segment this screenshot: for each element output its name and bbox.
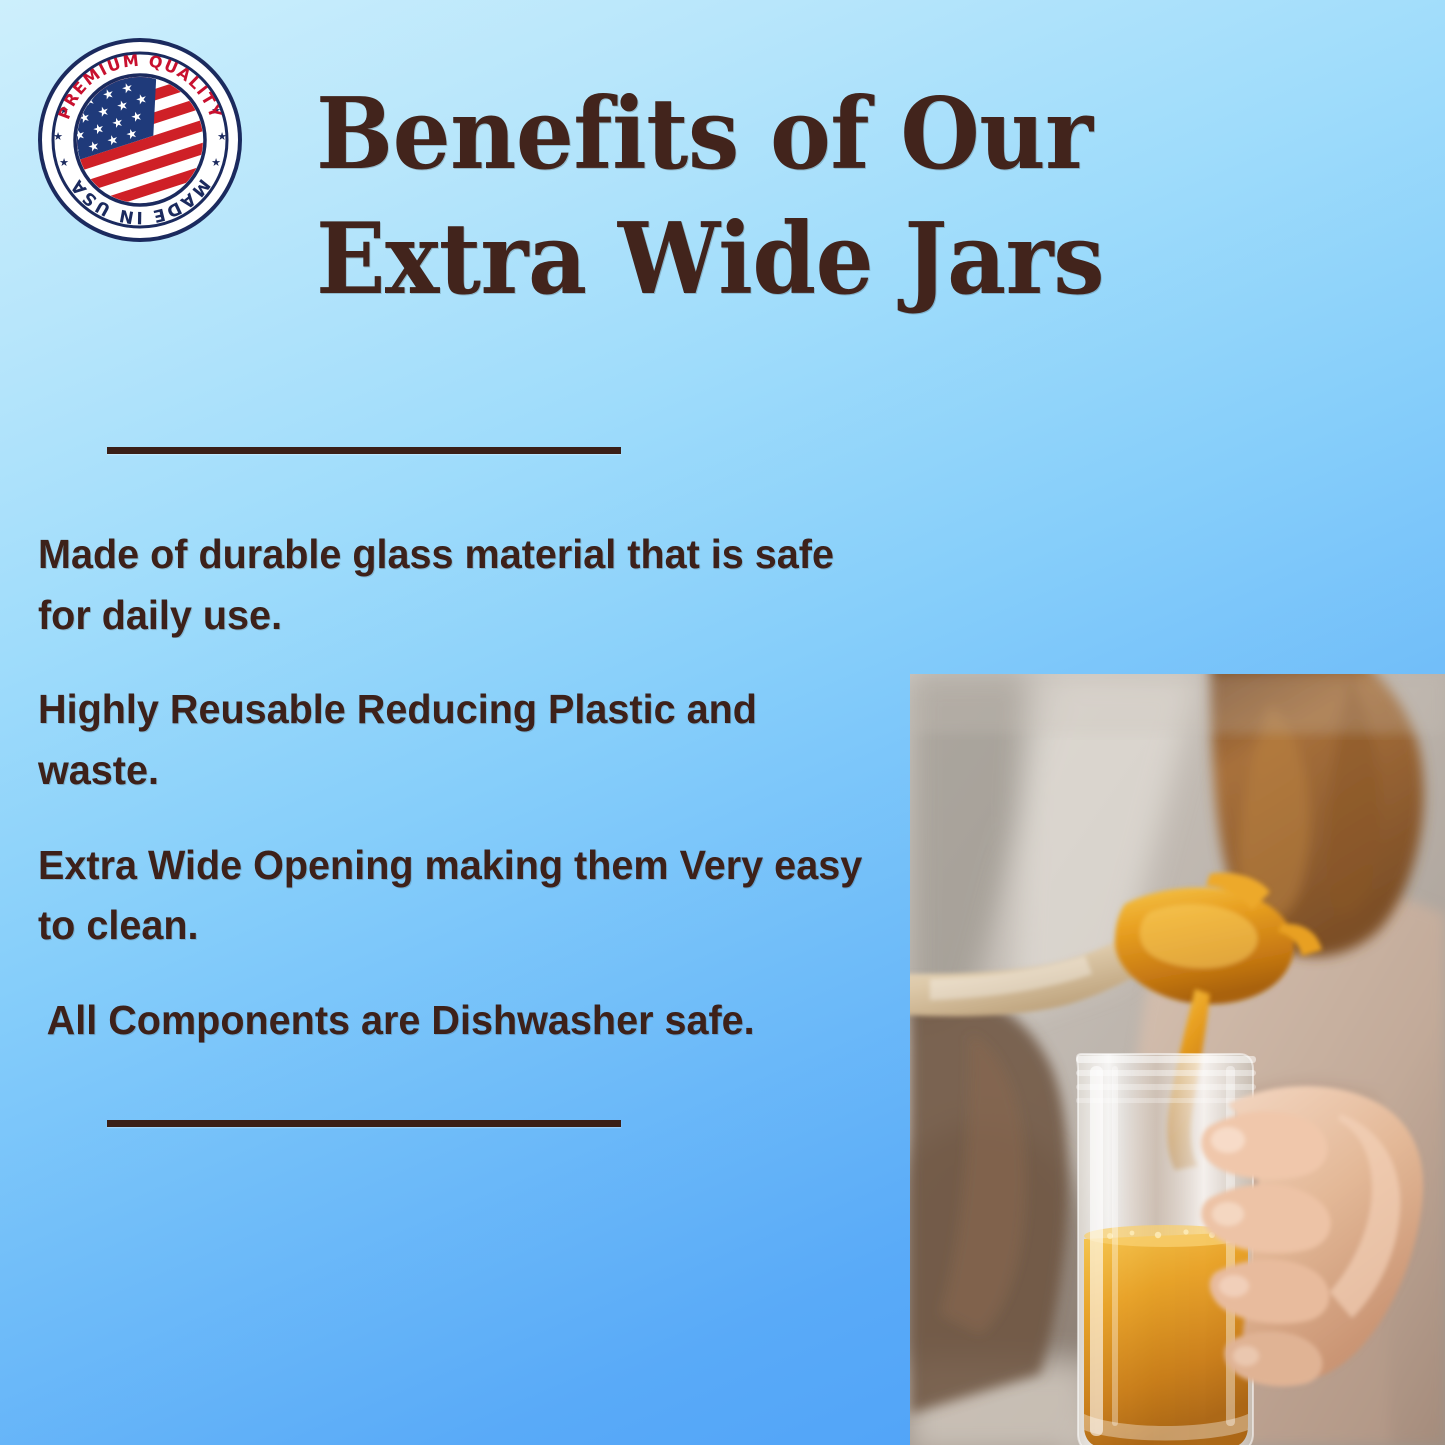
product-benefits-infographic: ★★★ ★★ ★★★ ★ ★★★ ★★ ★★★ ★ ★★★ ★	[0, 0, 1445, 1445]
benefits-list: Made of durable glass material that is s…	[38, 524, 918, 1051]
badge-star-icon: ★	[217, 130, 227, 143]
made-in-usa-badge-icon: ★★★ ★★ ★★★ ★ ★★★ ★★ ★★★ ★ ★★★ ★	[36, 36, 244, 244]
badge-star-icon: ★	[59, 156, 69, 169]
benefit-item: Highly Reusable Reducing Plastic and was…	[38, 679, 887, 800]
badge-star-icon: ★	[211, 156, 221, 169]
benefit-item: Made of durable glass material that is s…	[38, 524, 887, 645]
product-photo	[910, 674, 1445, 1445]
divider-top	[107, 447, 621, 454]
divider-bottom	[107, 1120, 621, 1127]
page-title: Benefits of Our Extra Wide Jars	[316, 72, 1196, 323]
badge-star-icon: ★	[53, 130, 63, 143]
title-line-1: Benefits of Our	[316, 72, 1134, 197]
benefit-item: Extra Wide Opening making them Very easy…	[38, 835, 887, 956]
benefit-item: All Components are Dishwasher safe.	[38, 990, 887, 1051]
title-line-2: Extra Wide Jars	[316, 197, 1134, 322]
